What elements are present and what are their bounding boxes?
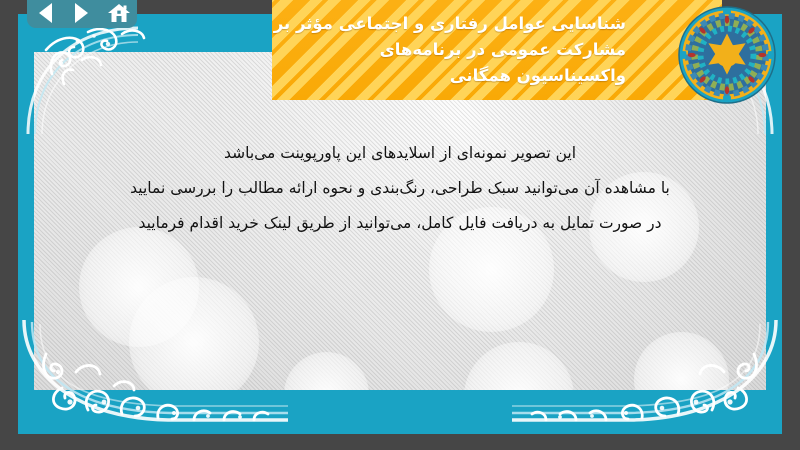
title-line-2: مشارکت عمومی در برنامه‌های <box>282 37 626 63</box>
slide-viewer-toolbar <box>27 0 137 28</box>
next-slide-button[interactable] <box>69 2 95 24</box>
bokeh-circle <box>464 342 574 390</box>
previous-slide-button[interactable] <box>32 2 58 24</box>
title-line-1: شناسایی عوامل رفتاری و اجتماعی مؤثر بر <box>282 11 626 37</box>
bokeh-circle <box>129 277 259 390</box>
triangle-right-icon <box>75 3 88 23</box>
mandala-ornament <box>678 6 776 104</box>
bokeh-circle <box>634 332 729 390</box>
home-icon <box>107 2 131 24</box>
body-line-3: در صورت تمایل به دریافت فایل کامل، می‌تو… <box>42 206 758 241</box>
triangle-left-icon <box>39 3 52 23</box>
home-button[interactable] <box>106 2 132 24</box>
body-line-2: با مشاهده آن می‌توانید سبک طراحی، رنگ‌بن… <box>42 171 758 206</box>
page-title: شناسایی عوامل رفتاری و اجتماعی مؤثر بر م… <box>282 11 626 89</box>
slide-title-banner: شناسایی عوامل رفتاری و اجتماعی مؤثر بر م… <box>272 0 722 100</box>
body-line-1: این تصویر نمونه‌ای از اسلایدهای این پاور… <box>42 136 758 171</box>
slide-body-text: این تصویر نمونه‌ای از اسلایدهای این پاور… <box>42 136 758 241</box>
title-line-3: واکسیناسیون همگانی <box>282 63 626 89</box>
bokeh-circle <box>284 352 369 390</box>
